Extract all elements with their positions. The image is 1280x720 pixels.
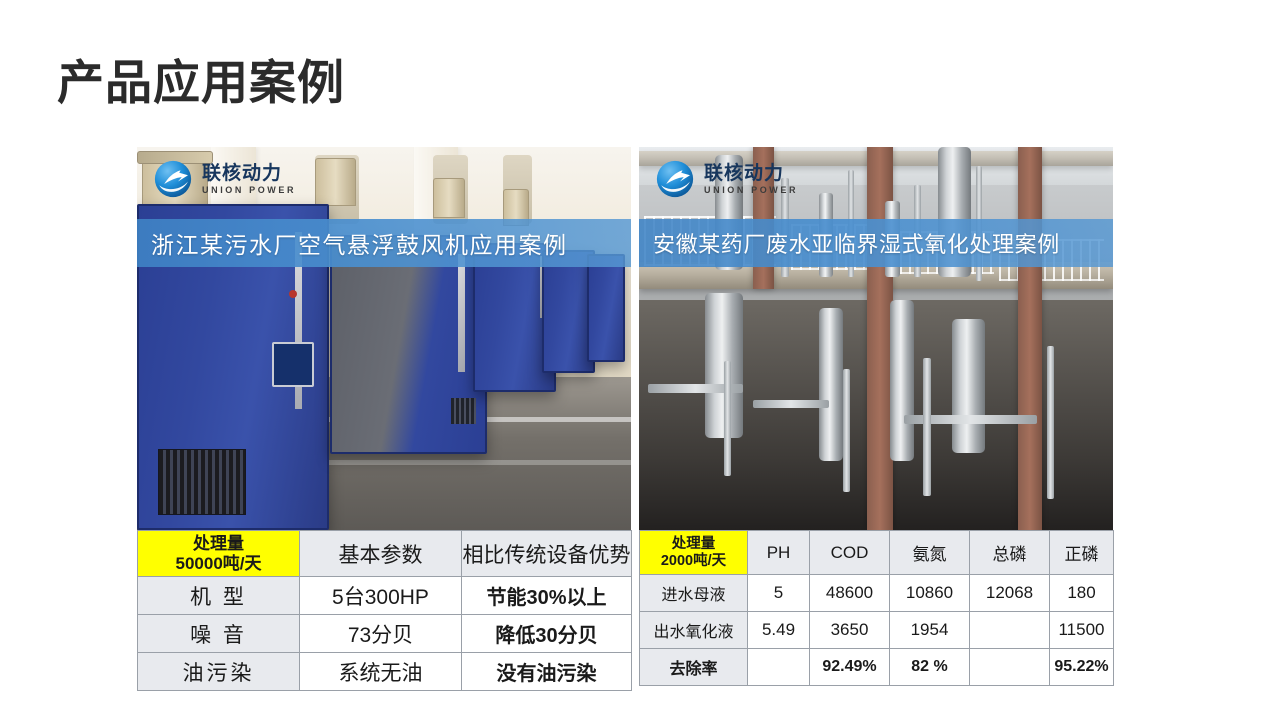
cell-noise-value: 73分贝: [300, 615, 462, 653]
cell-effluent-ph: 5.49: [748, 612, 810, 649]
row-label-effluent: 出水氧化液: [640, 612, 748, 649]
spec-table-right: 处理量 2000吨/天 PH COD 氨氮 总磷 正磷 进水母液 5 48600…: [639, 530, 1114, 686]
table-header-row: 处理量 50000吨/天 基本参数 相比传统设备优势: [138, 531, 632, 577]
case-photo-left: 联核动力 UNION POWER 浙江某污水厂空气悬浮鼓风机应用案例: [137, 147, 631, 530]
cell-model-advantage: 节能30%以上: [462, 577, 632, 615]
cell-influent-total-phosphorus: 12068: [970, 575, 1050, 612]
case-photo-right: 联核动力 UNION POWER 安徽某药厂废水亚临界湿式氧化处理案例: [639, 147, 1113, 530]
cell-influent-ammonia: 10860: [890, 575, 970, 612]
row-label-noise: 噪 音: [138, 615, 300, 653]
cell-influent-orthophosphate: 180: [1050, 575, 1114, 612]
row-label-model: 机 型: [138, 577, 300, 615]
column-header-orthophosphate: 正磷: [1050, 531, 1114, 575]
throughput-value: 2000吨/天: [661, 553, 726, 569]
brand-name-en: UNION POWER: [202, 186, 296, 195]
table-row: 机 型 5台300HP 节能30%以上: [138, 577, 632, 615]
cell-effluent-total-phosphorus: [970, 612, 1050, 649]
throughput-label: 处理量: [193, 534, 244, 553]
brand-logo-left: 联核动力 UNION POWER: [153, 159, 296, 199]
table-row: 油污染 系统无油 没有油污染: [138, 653, 632, 691]
brand-logo-right: 联核动力 UNION POWER: [655, 159, 798, 199]
case-caption-right: 安徽某药厂废水亚临界湿式氧化处理案例: [639, 227, 1060, 259]
cell-effluent-ammonia: 1954: [890, 612, 970, 649]
cell-removal-total-phosphorus: [970, 649, 1050, 686]
table-row: 去除率 92.49% 82 % 95.22%: [640, 649, 1114, 686]
throughput-value: 50000吨/天: [176, 554, 262, 573]
row-label-removal-rate: 去除率: [640, 649, 748, 686]
union-power-swoosh-icon: [153, 159, 193, 199]
cell-influent-cod: 48600: [810, 575, 890, 612]
blower-room-photo: [137, 147, 631, 530]
brand-name-cn: 联核动力: [202, 164, 296, 183]
cell-effluent-cod: 3650: [810, 612, 890, 649]
throughput-label: 处理量: [672, 536, 716, 552]
wet-oxidation-plant-photo: [639, 147, 1113, 530]
brand-name-en: UNION POWER: [704, 186, 798, 195]
table-header-row: 处理量 2000吨/天 PH COD 氨氮 总磷 正磷: [640, 531, 1114, 575]
brand-name-cn: 联核动力: [704, 164, 798, 183]
case-caption-left: 浙江某污水厂空气悬浮鼓风机应用案例: [137, 226, 568, 260]
cell-model-value: 5台300HP: [300, 577, 462, 615]
page-title: 产品应用案例: [57, 57, 345, 109]
column-header-advantage: 相比传统设备优势: [462, 531, 632, 577]
column-header-ammonia-nitrogen: 氨氮: [890, 531, 970, 575]
column-header-ph: PH: [748, 531, 810, 575]
throughput-header: 处理量 2000吨/天: [640, 531, 748, 575]
column-header-total-phosphorus: 总磷: [970, 531, 1050, 575]
union-power-swoosh-icon: [655, 159, 695, 199]
table-row: 出水氧化液 5.49 3650 1954 11500: [640, 612, 1114, 649]
case-caption-bar-right: 安徽某药厂废水亚临界湿式氧化处理案例: [639, 219, 1113, 267]
column-header-cod: COD: [810, 531, 890, 575]
cell-noise-advantage: 降低30分贝: [462, 615, 632, 653]
row-label-influent: 进水母液: [640, 575, 748, 612]
cell-effluent-orthophosphate: 11500: [1050, 612, 1114, 649]
table-row: 进水母液 5 48600 10860 12068 180: [640, 575, 1114, 612]
row-label-oil-pollution: 油污染: [138, 653, 300, 691]
cell-removal-ammonia: 82 %: [890, 649, 970, 686]
table-row: 噪 音 73分贝 降低30分贝: [138, 615, 632, 653]
cell-removal-ph: [748, 649, 810, 686]
cell-oil-value: 系统无油: [300, 653, 462, 691]
cell-influent-ph: 5: [748, 575, 810, 612]
case-panel-right: 联核动力 UNION POWER 安徽某药厂废水亚临界湿式氧化处理案例 处理量 …: [639, 147, 1113, 686]
cell-removal-orthophosphate: 95.22%: [1050, 649, 1114, 686]
case-panel-left: 联核动力 UNION POWER 浙江某污水厂空气悬浮鼓风机应用案例 处理量 5…: [137, 147, 631, 691]
cell-oil-advantage: 没有油污染: [462, 653, 632, 691]
column-header-basic-params: 基本参数: [300, 531, 462, 577]
case-caption-bar-left: 浙江某污水厂空气悬浮鼓风机应用案例: [137, 219, 631, 267]
cell-removal-cod: 92.49%: [810, 649, 890, 686]
spec-table-left: 处理量 50000吨/天 基本参数 相比传统设备优势 机 型 5台300HP 节…: [137, 530, 632, 691]
throughput-header: 处理量 50000吨/天: [138, 531, 300, 577]
